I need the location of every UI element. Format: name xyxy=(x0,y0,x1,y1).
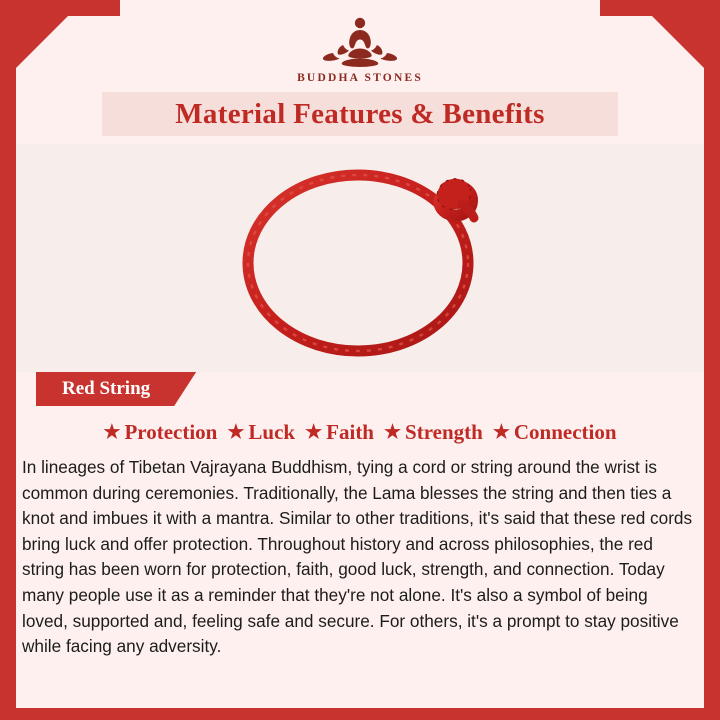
keyword-item: ★ Protection xyxy=(98,420,222,445)
title-banner: Material Features & Benefits xyxy=(102,92,618,136)
product-subtitle: Red String xyxy=(62,378,150,400)
star-icon: ★ xyxy=(493,423,510,442)
keyword-label: Faith xyxy=(326,420,374,445)
description-text: In lineages of Tibetan Vajrayana Buddhis… xyxy=(22,455,698,660)
frame-edge-left xyxy=(0,0,16,720)
product-image xyxy=(16,144,704,372)
frame-edge-bottom xyxy=(0,708,720,720)
keyword-label: Strength xyxy=(405,420,483,445)
keyword-label: Protection xyxy=(124,420,217,445)
keyword-label: Luck xyxy=(248,420,295,445)
product-subtitle-tab: Red String xyxy=(36,372,196,406)
keyword-list: ★ Protection ★ Luck ★ Faith ★ Strength ★… xyxy=(16,420,704,445)
infographic-page: BUDDHA STONES Material Features & Benefi… xyxy=(0,0,720,720)
frame-edge-right xyxy=(704,0,720,720)
keyword-item: ★ Strength xyxy=(379,420,488,445)
brand-logo: BUDDHA STONES xyxy=(0,14,720,84)
star-icon: ★ xyxy=(227,423,244,442)
red-string-bracelet-illustration xyxy=(210,160,510,360)
star-icon: ★ xyxy=(103,423,120,442)
keyword-item: ★ Luck xyxy=(222,420,300,445)
lotus-meditation-icon xyxy=(317,14,403,70)
keyword-item: ★ Faith xyxy=(300,420,379,445)
star-icon: ★ xyxy=(305,423,322,442)
star-icon: ★ xyxy=(384,423,401,442)
keyword-item: ★ Connection xyxy=(488,420,622,445)
keyword-label: Connection xyxy=(514,420,617,445)
brand-name: BUDDHA STONES xyxy=(0,72,720,84)
page-title: Material Features & Benefits xyxy=(175,98,544,131)
